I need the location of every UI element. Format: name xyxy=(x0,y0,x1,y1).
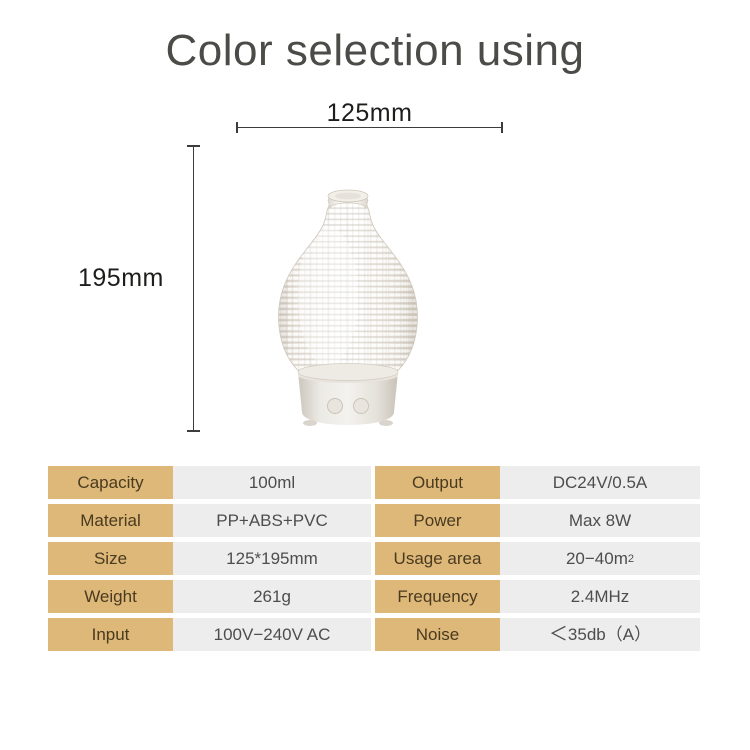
spec-label-weight: Weight xyxy=(48,580,173,613)
spec-value-output: DC24V/0.5A xyxy=(500,466,700,499)
spec-label-size: Size xyxy=(48,542,173,575)
aroma-diffuser-image xyxy=(262,176,434,432)
less-than-icon: ＜ xyxy=(549,625,568,644)
spec-value-material: PP+ABS+PVC xyxy=(173,504,371,537)
spec-value-capacity: 100ml xyxy=(173,466,371,499)
spec-value-power: Max 8W xyxy=(500,504,700,537)
spec-value-size: 125*195mm xyxy=(173,542,371,575)
height-dimension-label: 195mm xyxy=(78,264,164,293)
light-button-icon xyxy=(354,399,369,414)
noise-text: 35db（A） xyxy=(568,626,651,643)
table-row: Capacity 100ml Output DC24V/0.5A xyxy=(48,466,700,499)
table-row: Input 100V−240V AC Noise ＜35db（A） xyxy=(48,618,700,651)
spec-label-usage-area: Usage area xyxy=(375,542,500,575)
spec-value-input: 100V−240V AC xyxy=(173,618,371,651)
width-dimension-label: 125mm xyxy=(236,99,503,128)
spec-value-usage-area: 20−40m2 xyxy=(500,542,700,575)
spec-label-input: Input xyxy=(48,618,173,651)
height-dimension-line xyxy=(193,145,194,432)
table-row: Size 125*195mm Usage area 20−40m2 xyxy=(48,542,700,575)
specification-table: Capacity 100ml Output DC24V/0.5A Materia… xyxy=(48,466,700,651)
spec-value-frequency: 2.4MHz xyxy=(500,580,700,613)
spec-label-frequency: Frequency xyxy=(375,580,500,613)
spec-label-output: Output xyxy=(375,466,500,499)
table-row: Weight 261g Frequency 2.4MHz xyxy=(48,580,700,613)
width-dimension-line xyxy=(236,127,503,128)
power-button-icon xyxy=(328,399,343,414)
product-dimension-diagram: 125mm 195mm xyxy=(0,0,750,455)
spec-label-material: Material xyxy=(48,504,173,537)
spec-value-noise: ＜35db（A） xyxy=(500,618,700,651)
spec-label-noise: Noise xyxy=(375,618,500,651)
table-row: Material PP+ABS+PVC Power Max 8W xyxy=(48,504,700,537)
spec-label-power: Power xyxy=(375,504,500,537)
usage-area-text: 20−40m xyxy=(566,550,628,567)
spec-value-weight: 261g xyxy=(173,580,371,613)
diffuser-base xyxy=(262,364,434,429)
spec-label-capacity: Capacity xyxy=(48,466,173,499)
